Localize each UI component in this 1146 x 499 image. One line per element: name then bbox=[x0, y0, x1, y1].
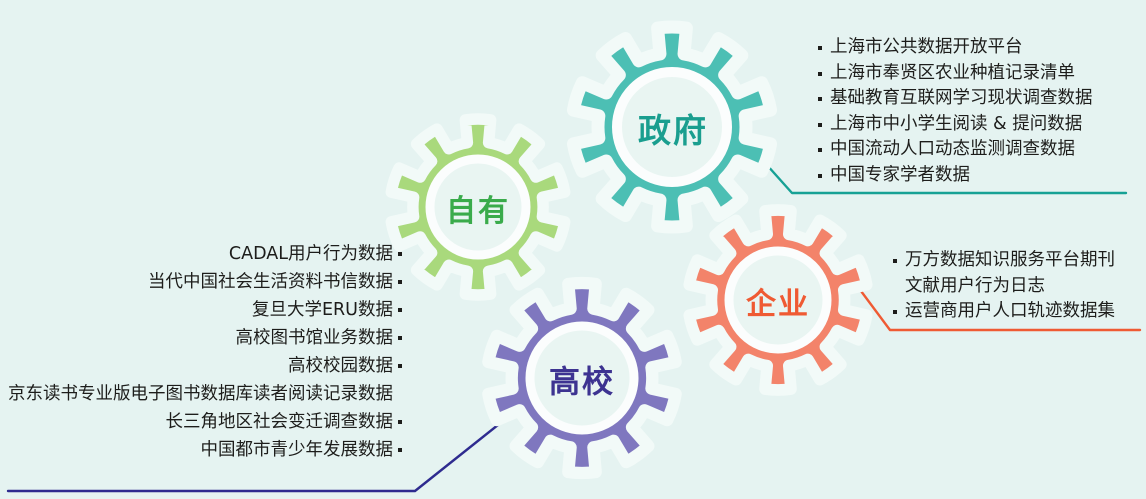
list-item: 京东读书专业版电子图书数据库读者阅读记录数据 bbox=[0, 380, 402, 408]
list-item-label: 运营商用户人口轨迹数据集 bbox=[905, 299, 1115, 325]
bullet-icon bbox=[818, 97, 822, 101]
bullet-icon bbox=[398, 448, 402, 452]
list-item-label: 当代中国社会生活资料书信数据 bbox=[148, 272, 393, 292]
gear-label-government: 政府 bbox=[638, 104, 708, 152]
bullet-icon bbox=[818, 148, 822, 152]
bullet-icon bbox=[398, 364, 402, 368]
list-item: 上海市奉贤区农业种植记录清单 bbox=[818, 61, 1093, 87]
bullet-icon bbox=[818, 174, 822, 178]
list-item: 中国流动人口动态监测调查数据 bbox=[818, 137, 1093, 163]
list-item-label: 上海市奉贤区农业种植记录清单 bbox=[830, 61, 1075, 87]
bullet-icon bbox=[818, 72, 822, 76]
list-item-label: 复旦大学ERU数据 bbox=[252, 300, 393, 320]
list-item: 长三角地区社会变迁调查数据 bbox=[0, 408, 402, 436]
list-item-label: 基础教育互联网学习现状调查数据 bbox=[830, 86, 1093, 112]
infographic-canvas: 自有 政府 企业 高校 上海市公共数据开放平台 上海市奉贤区农业种植记录清单 基… bbox=[0, 0, 1146, 499]
bullet-icon bbox=[398, 280, 402, 284]
list-item-label: 中国流动人口动态监测调查数据 bbox=[830, 137, 1075, 163]
list-item-label: 高校校园数据 bbox=[288, 356, 393, 376]
bullet-icon bbox=[893, 259, 897, 263]
list-item: 复旦大学ERU数据 bbox=[0, 296, 402, 324]
list-item-label: 中国都市青少年发展数据 bbox=[201, 440, 394, 460]
list-item-label: 长三角地区社会变迁调查数据 bbox=[166, 412, 394, 432]
bullet-icon bbox=[398, 420, 402, 424]
list-item-label: 中国专家学者数据 bbox=[830, 163, 970, 189]
list-item: 上海市中小学生阅读 & 提问数据 bbox=[818, 112, 1093, 138]
list-item: 基础教育互联网学习现状调查数据 bbox=[818, 86, 1093, 112]
list-item: 高校校园数据 bbox=[0, 352, 402, 380]
list-item: 上海市公共数据开放平台 bbox=[818, 35, 1093, 61]
list-item-label: CADAL用户行为数据 bbox=[229, 244, 393, 264]
list-item-label: 文献用户行为日志 bbox=[905, 274, 1045, 300]
list-item: 运营商用户人口轨迹数据集 bbox=[893, 299, 1115, 325]
university-data-list: CADAL用户行为数据 当代中国社会生活资料书信数据 复旦大学ERU数据 高校图… bbox=[0, 240, 402, 464]
bullet-icon-placeholder bbox=[893, 285, 897, 289]
bullet-icon bbox=[818, 46, 822, 50]
gear-label-self-owned: 自有 bbox=[446, 186, 510, 230]
bullet-icon bbox=[818, 123, 822, 127]
government-data-list: 上海市公共数据开放平台 上海市奉贤区农业种植记录清单 基础教育互联网学习现状调查… bbox=[818, 35, 1093, 188]
list-item: 万方数据知识服务平台期刊 bbox=[893, 248, 1115, 274]
list-item-label: 上海市中小学生阅读 & 提问数据 bbox=[830, 112, 1082, 138]
list-item: 高校图书馆业务数据 bbox=[0, 324, 402, 352]
gear-label-enterprise: 企业 bbox=[746, 279, 810, 323]
list-item-continuation: 文献用户行为日志 bbox=[893, 274, 1115, 300]
list-item: 中国都市青少年发展数据 bbox=[0, 436, 402, 464]
bullet-icon-placeholder bbox=[398, 392, 402, 396]
gear-label-university: 高校 bbox=[549, 357, 615, 402]
list-item-label: 万方数据知识服务平台期刊 bbox=[905, 248, 1115, 274]
list-item: 中国专家学者数据 bbox=[818, 163, 1093, 189]
list-item-label: 高校图书馆业务数据 bbox=[236, 328, 394, 348]
list-item-label: 京东读书专业版电子图书数据库读者阅读记录数据 bbox=[8, 384, 393, 404]
bullet-icon bbox=[398, 308, 402, 312]
bullet-icon bbox=[893, 310, 897, 314]
enterprise-data-list: 万方数据知识服务平台期刊 文献用户行为日志 运营商用户人口轨迹数据集 bbox=[893, 248, 1115, 325]
list-item-label: 上海市公共数据开放平台 bbox=[830, 35, 1023, 61]
list-item: 当代中国社会生活资料书信数据 bbox=[0, 268, 402, 296]
bullet-icon bbox=[398, 252, 402, 256]
list-item: CADAL用户行为数据 bbox=[0, 240, 402, 268]
bullet-icon bbox=[398, 336, 402, 340]
